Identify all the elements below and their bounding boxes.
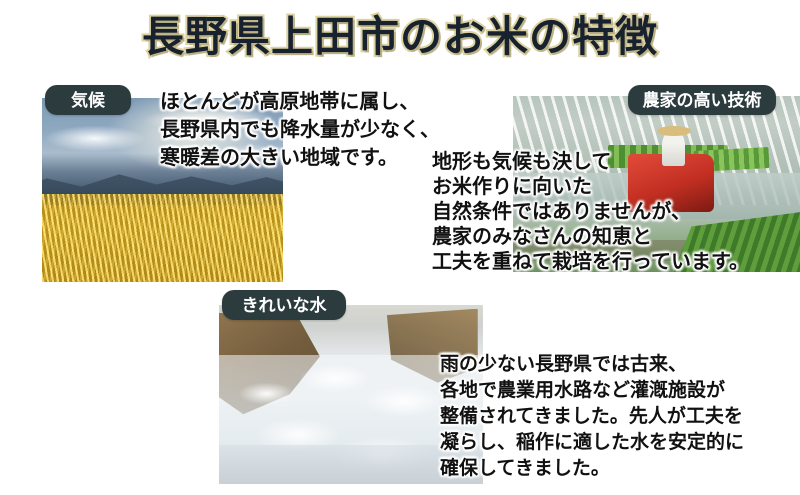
body-text-technique: 地形も気候も決して お米作りに向いた 自然条件ではありませんが、 農家のみなさん… — [432, 150, 749, 275]
page-title: 長野県上田市のお米の特徴 — [0, 12, 800, 64]
badge-technique: 農家の高い技術 — [628, 85, 776, 115]
rice-stalks-texture — [42, 194, 283, 282]
body-text-climate: ほとんどが高原地帯に属し、 長野県内でも降水量が少なく、 寒暖差の大きい地域です… — [160, 88, 440, 172]
badge-climate: 気候 — [45, 85, 131, 115]
badge-water: きれいな水 — [222, 290, 346, 320]
body-text-water: 雨の少ない長野県では古来、 各地で農業用水路など灌漑施設が 整備されてきました。… — [440, 352, 744, 482]
